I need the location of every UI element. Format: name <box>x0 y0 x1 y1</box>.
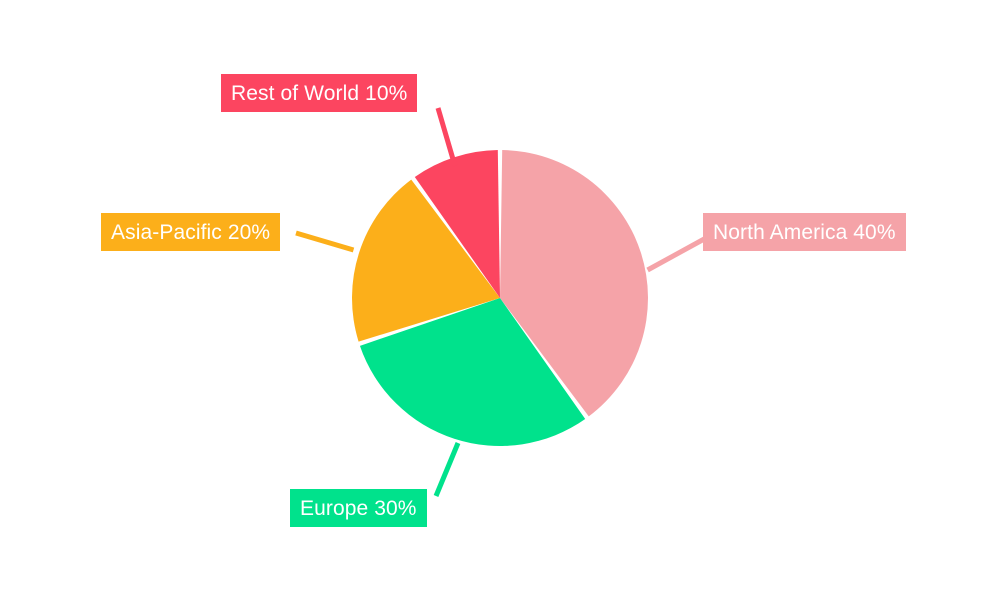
pie-label-asia-pacific[interactable]: Asia-Pacific 20% <box>101 213 280 251</box>
pie-label-rest-of-world[interactable]: Rest of World 10% <box>221 74 417 112</box>
leader-line-rest-of-world <box>438 108 455 166</box>
pie-label-rest-of-world-text: Rest of World 10% <box>231 83 407 104</box>
pie-label-asia-pacific-text: Asia-Pacific 20% <box>111 222 270 243</box>
pie-label-europe[interactable]: Europe 30% <box>290 489 427 527</box>
leader-line-north-america <box>648 238 706 270</box>
pie-label-north-america[interactable]: North America 40% <box>703 213 906 251</box>
pie-slices <box>352 150 648 446</box>
pie-label-europe-text: Europe 30% <box>300 498 417 519</box>
leader-line-europe <box>436 443 458 496</box>
leader-line-asia-pacific <box>296 233 354 250</box>
pie-label-north-america-text: North America 40% <box>713 222 896 243</box>
pie-chart-figure: North America 40% Europe 30% Asia-Pacifi… <box>0 0 1000 600</box>
pie-chart-canvas <box>0 0 1000 600</box>
